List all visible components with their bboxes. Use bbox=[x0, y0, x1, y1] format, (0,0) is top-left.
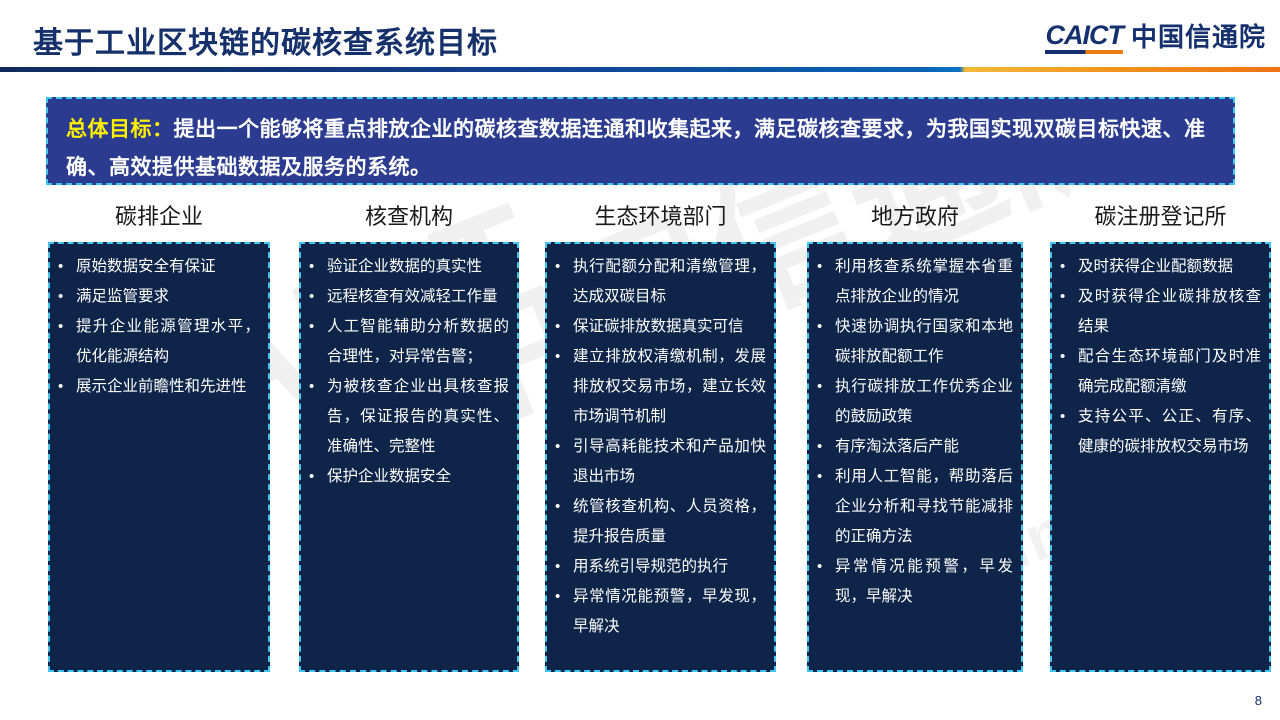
column-ecology-ministry: 生态环境部门 执行配额分配和清缴管理，达成双碳目标 保证碳排放数据真实可信 建立… bbox=[545, 200, 776, 672]
column-verification-agency: 核查机构 验证企业数据的真实性 远程核查有效减轻工作量 人工智能辅助分析数据的合… bbox=[299, 200, 519, 672]
list-item: 建立排放权清缴机制，发展排放权交易市场，建立长效市场调节机制 bbox=[553, 342, 766, 432]
page-number: 8 bbox=[1255, 693, 1262, 708]
column-heading: 地方政府 bbox=[807, 200, 1023, 242]
column-body: 验证企业数据的真实性 远程核查有效减轻工作量 人工智能辅助分析数据的合理性，对异… bbox=[299, 242, 519, 672]
list-item: 异常情况能预警，早发现，早解决 bbox=[553, 582, 766, 642]
column-carbon-registry: 碳注册登记所 及时获得企业配额数据 及时获得企业碳排放核查结果 配合生态环境部门… bbox=[1050, 200, 1271, 672]
column-heading: 碳排企业 bbox=[48, 200, 270, 242]
list-item: 验证企业数据的真实性 bbox=[307, 252, 509, 282]
list-item: 执行配额分配和清缴管理，达成双碳目标 bbox=[553, 252, 766, 312]
bullet-list: 原始数据安全有保证 满足监管要求 提升企业能源管理水平，优化能源结构 展示企业前… bbox=[56, 252, 260, 402]
column-heading: 碳注册登记所 bbox=[1050, 200, 1271, 242]
logo-mark-wrapper: CAICT bbox=[1045, 22, 1123, 54]
slide-header: 基于工业区块链的碳核查系统目标 CAICT 中国信通院 bbox=[0, 0, 1280, 70]
bullet-list: 验证企业数据的真实性 远程核查有效减轻工作量 人工智能辅助分析数据的合理性，对异… bbox=[307, 252, 509, 492]
list-item: 满足监管要求 bbox=[56, 282, 260, 312]
column-body: 执行配额分配和清缴管理，达成双碳目标 保证碳排放数据真实可信 建立排放权清缴机制… bbox=[545, 242, 776, 672]
list-item: 利用人工智能，帮助落后企业分析和寻找节能减排的正确方法 bbox=[815, 462, 1013, 552]
objective-banner: 总体目标：提出一个能够将重点排放企业的碳核查数据连通和收集起来，满足碳核查要求，… bbox=[46, 97, 1235, 185]
list-item: 配合生态环境部门及时准确完成配额清缴 bbox=[1058, 342, 1261, 402]
column-body: 及时获得企业配额数据 及时获得企业碳排放核查结果 配合生态环境部门及时准确完成配… bbox=[1050, 242, 1271, 672]
list-item: 提升企业能源管理水平，优化能源结构 bbox=[56, 312, 260, 372]
column-body: 原始数据安全有保证 满足监管要求 提升企业能源管理水平，优化能源结构 展示企业前… bbox=[48, 242, 270, 672]
list-item: 人工智能辅助分析数据的合理性，对异常告警； bbox=[307, 312, 509, 372]
list-item: 为被核查企业出具核查报告，保证报告的真实性、准确性、完整性 bbox=[307, 372, 509, 462]
bullet-list: 利用核查系统掌握本省重点排放企业的情况 快速协调执行国家和本地碳排放配额工作 执… bbox=[815, 252, 1013, 612]
page-title: 基于工业区块链的碳核查系统目标 bbox=[33, 18, 498, 62]
list-item: 统管核查机构、人员资格，提升报告质量 bbox=[553, 492, 766, 552]
list-item: 展示企业前瞻性和先进性 bbox=[56, 372, 260, 402]
logo-underline-icon bbox=[1045, 50, 1123, 54]
objective-label: 总体目标： bbox=[66, 118, 174, 141]
header-divider bbox=[0, 67, 1280, 72]
list-item: 异常情况能预警，早发现，早解决 bbox=[815, 552, 1013, 612]
list-item: 执行碳排放工作优秀企业的鼓励政策 bbox=[815, 372, 1013, 432]
column-body: 利用核查系统掌握本省重点排放企业的情况 快速协调执行国家和本地碳排放配额工作 执… bbox=[807, 242, 1023, 672]
list-item: 用系统引导规范的执行 bbox=[553, 552, 766, 582]
bullet-list: 执行配额分配和清缴管理，达成双碳目标 保证碳排放数据真实可信 建立排放权清缴机制… bbox=[553, 252, 766, 642]
list-item: 保证碳排放数据真实可信 bbox=[553, 312, 766, 342]
column-heading: 核查机构 bbox=[299, 200, 519, 242]
caict-logo: CAICT 中国信通院 bbox=[1045, 22, 1266, 54]
column-carbon-emitters: 碳排企业 原始数据安全有保证 满足监管要求 提升企业能源管理水平，优化能源结构 … bbox=[48, 200, 270, 672]
list-item: 及时获得企业碳排放核查结果 bbox=[1058, 282, 1261, 342]
objective-text: 总体目标：提出一个能够将重点排放企业的碳核查数据连通和收集起来，满足碳核查要求，… bbox=[66, 111, 1215, 187]
list-item: 支持公平、公正、有序、健康的碳排放权交易市场 bbox=[1058, 402, 1261, 462]
column-heading: 生态环境部门 bbox=[545, 200, 776, 242]
list-item: 原始数据安全有保证 bbox=[56, 252, 260, 282]
bullet-list: 及时获得企业配额数据 及时获得企业碳排放核查结果 配合生态环境部门及时准确完成配… bbox=[1058, 252, 1261, 462]
logo-name-text: 中国信通院 bbox=[1131, 24, 1266, 54]
list-item: 远程核查有效减轻工作量 bbox=[307, 282, 509, 312]
list-item: 保护企业数据安全 bbox=[307, 462, 509, 492]
list-item: 引导高耗能技术和产品加快退出市场 bbox=[553, 432, 766, 492]
list-item: 有序淘汰落后产能 bbox=[815, 432, 1013, 462]
objective-body: 提出一个能够将重点排放企业的碳核查数据连通和收集起来，满足碳核查要求，为我国实现… bbox=[66, 118, 1206, 179]
column-local-government: 地方政府 利用核查系统掌握本省重点排放企业的情况 快速协调执行国家和本地碳排放配… bbox=[807, 200, 1023, 672]
logo-mark-text: CAICT bbox=[1045, 20, 1123, 50]
list-item: 快速协调执行国家和本地碳排放配额工作 bbox=[815, 312, 1013, 372]
list-item: 利用核查系统掌握本省重点排放企业的情况 bbox=[815, 252, 1013, 312]
list-item: 及时获得企业配额数据 bbox=[1058, 252, 1261, 282]
stakeholder-columns: 碳排企业 原始数据安全有保证 满足监管要求 提升企业能源管理水平，优化能源结构 … bbox=[0, 200, 1280, 680]
